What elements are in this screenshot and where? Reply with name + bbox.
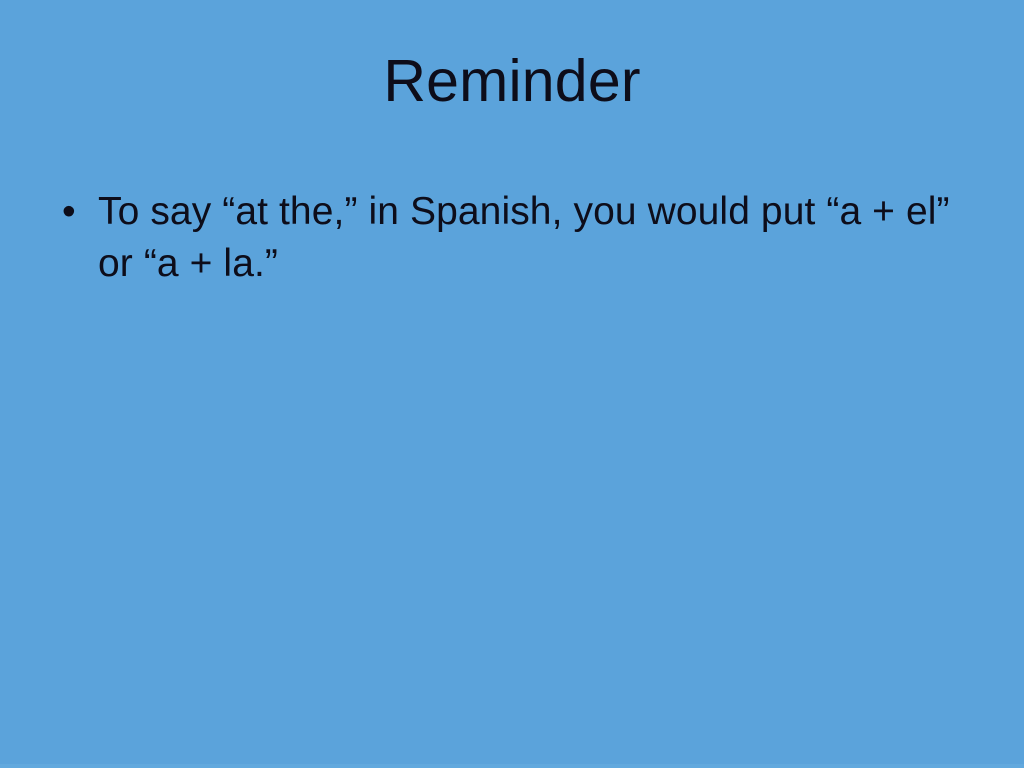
slide-bottom-edge — [0, 764, 1024, 768]
slide-title: Reminder — [0, 48, 1024, 116]
slide-body-placeholder: • To say “at the,” in Spanish, you would… — [56, 186, 976, 290]
presentation-slide: Reminder • To say “at the,” in Spanish, … — [0, 0, 1024, 768]
bullet-item-label: To say “at the,” in Spanish, you would p… — [98, 186, 976, 290]
list-item: • To say “at the,” in Spanish, you would… — [56, 186, 976, 290]
bullet-point-icon: • — [62, 186, 82, 238]
